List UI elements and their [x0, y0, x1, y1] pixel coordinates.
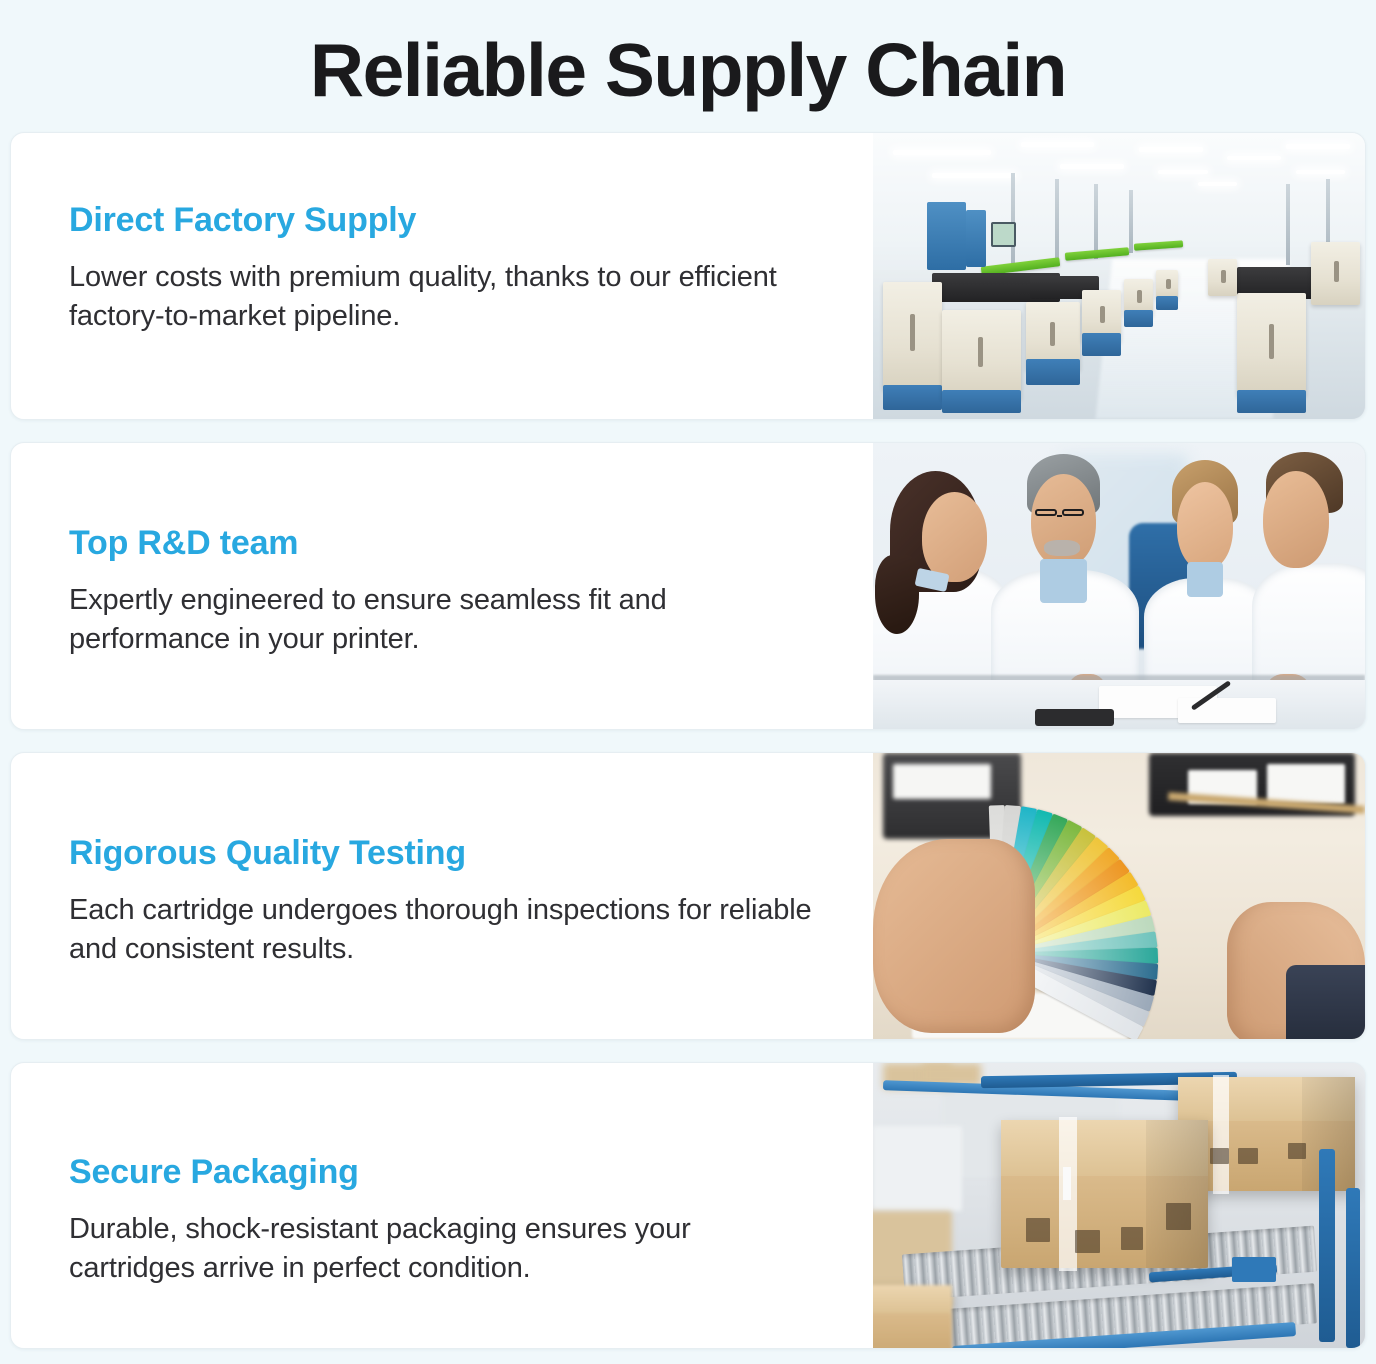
card-body-text: Each cartridge undergoes thorough inspec…	[69, 891, 821, 968]
card-heading: Secure Packaging	[69, 1153, 821, 1192]
card-heading: Direct Factory Supply	[69, 201, 821, 240]
card-body-text: Durable, shock-resistant packaging ensur…	[69, 1210, 821, 1287]
card-body-text: Lower costs with premium quality, thanks…	[69, 258, 821, 335]
card-body-text: Expertly engineered to ensure seamless f…	[69, 581, 821, 658]
feature-card-rigorous-quality-testing[interactable]: Rigorous Quality Testing Each cartridge …	[10, 752, 1366, 1040]
card-image-color-swatch-inspection	[873, 753, 1365, 1039]
card-heading: Rigorous Quality Testing	[69, 834, 821, 873]
card-image-research-team-meeting	[873, 443, 1365, 729]
feature-card-list: Direct Factory Supply Lower costs with p…	[0, 132, 1376, 1358]
card-image-factory-production-line	[873, 133, 1365, 419]
feature-card-top-rd-team[interactable]: Top R&D team Expertly engineered to ensu…	[10, 442, 1366, 730]
lab-team-photo-illustration	[873, 443, 1365, 729]
feature-card-direct-factory-supply[interactable]: Direct Factory Supply Lower costs with p…	[10, 132, 1366, 420]
page-title: Reliable Supply Chain	[0, 0, 1376, 132]
supply-chain-feature-page: Reliable Supply Chain Direct Factory Sup…	[0, 0, 1376, 1364]
card-text-block: Secure Packaging Durable, shock-resistan…	[11, 1063, 873, 1348]
card-image-packaging-conveyor	[873, 1063, 1365, 1348]
conveyor-photo-illustration	[873, 1063, 1365, 1348]
factory-photo-illustration	[873, 133, 1365, 419]
card-text-block: Rigorous Quality Testing Each cartridge …	[11, 753, 873, 1039]
swatch-photo-illustration	[873, 753, 1365, 1039]
card-text-block: Direct Factory Supply Lower costs with p…	[11, 133, 873, 419]
feature-card-secure-packaging[interactable]: Secure Packaging Durable, shock-resistan…	[10, 1062, 1366, 1349]
card-heading: Top R&D team	[69, 524, 821, 563]
card-text-block: Top R&D team Expertly engineered to ensu…	[11, 443, 873, 729]
